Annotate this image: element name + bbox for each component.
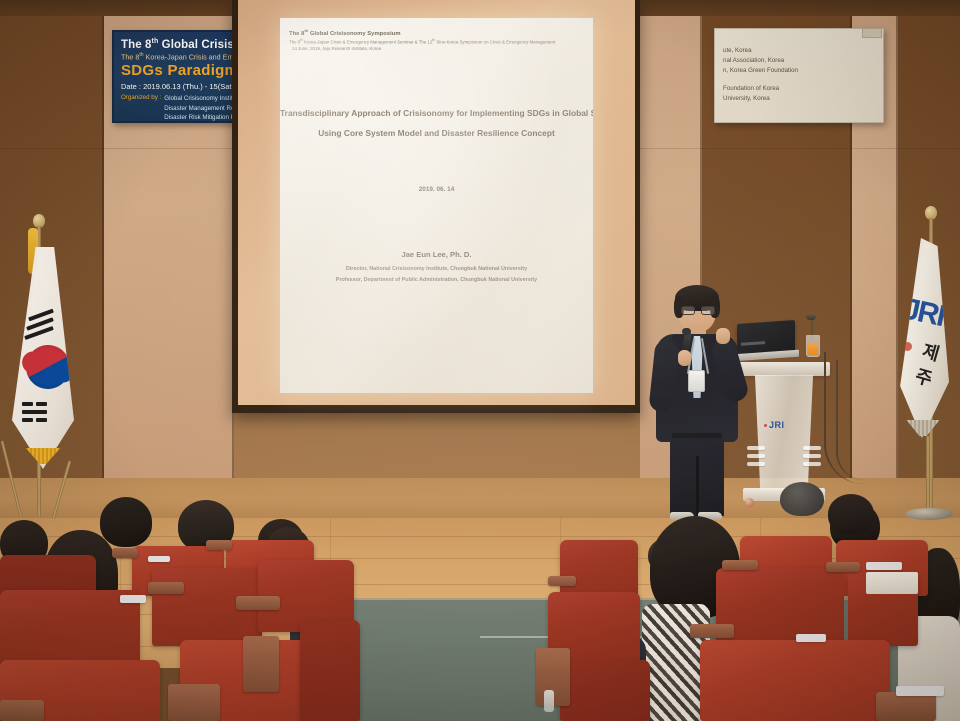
slide-header-title: The 8th Global Crisisonomy Symposium xyxy=(289,28,585,37)
podium-rib xyxy=(803,446,821,450)
seat-armrest xyxy=(690,624,734,638)
seat-armrest xyxy=(548,576,576,586)
slide-main-title: Transdisciplinary Approach of Crisisonom… xyxy=(280,104,593,144)
projection-screen-surface: The 8th Global Crisisonomy Symposium The… xyxy=(238,0,635,405)
presentation-slide: The 8th Global Crisisonomy Symposium The… xyxy=(280,18,593,393)
phone-on-armrest[interactable] xyxy=(120,595,146,603)
seat[interactable] xyxy=(700,640,890,721)
slide-header-title-pre: The 8 xyxy=(289,31,304,37)
banner-left-organized-label: Organized by : xyxy=(121,94,161,123)
presenter-name-badge xyxy=(688,370,705,392)
flag-stand-base-rod xyxy=(926,436,930,514)
seat-armrest xyxy=(722,560,758,570)
slide-author-affiliation-1: Director, National Crisisonomy Institute… xyxy=(280,265,593,274)
seat[interactable] xyxy=(300,620,360,721)
microphone-icon xyxy=(806,313,816,320)
seat-armrest xyxy=(876,692,936,721)
slide-header-seminar-line: The 8th Korea-Japan Crisis & Emergency M… xyxy=(289,38,585,44)
podium-rib xyxy=(747,454,765,458)
seat-armrest xyxy=(826,562,860,572)
wall-seam-5 xyxy=(896,0,898,500)
banner-left-theme: SDGs Paradigm xyxy=(121,62,250,79)
cup-contents xyxy=(808,343,818,355)
seat-armrest xyxy=(168,684,220,721)
phone-on-armrest[interactable] xyxy=(866,562,902,570)
slide-header-venue-line: 14 June, 2019, Jeju Research Institute, … xyxy=(289,46,585,51)
flag-stand-base xyxy=(905,508,953,520)
slide-header-seminar-c: Sino-Korea Symposium on Crisis & Emergen… xyxy=(435,40,555,45)
list-item: n, Korea Green Foundation xyxy=(723,66,875,76)
banner-left-title-pre: The 8 xyxy=(121,39,152,51)
slide-author-affiliation-2: Professor, Department of Public Administ… xyxy=(280,276,593,285)
slide-date: 2019. 06. 14 xyxy=(280,186,593,193)
loudspeaker-icon xyxy=(780,482,824,516)
seat-armrest xyxy=(206,540,232,550)
trigram-bottom xyxy=(22,402,33,406)
seat-armrest xyxy=(148,582,184,594)
seat[interactable] xyxy=(560,660,650,721)
presenter-hand-right xyxy=(716,328,730,344)
presenter-leg-gap xyxy=(696,456,699,516)
podium-rib xyxy=(747,446,765,450)
power-cable xyxy=(836,360,864,480)
glasses-icon xyxy=(701,306,715,315)
slide-title-line-1: Transdisciplinary Approach of Crisisonom… xyxy=(280,104,593,124)
presenter xyxy=(650,288,746,520)
banner-left-subtitle: The 8th Korea-Japan Crisis and Eme xyxy=(121,52,250,61)
banner-right-spacer xyxy=(723,76,875,84)
phone-on-armrest[interactable] xyxy=(796,634,826,642)
trigram-bottom xyxy=(36,402,47,406)
seat-armrest xyxy=(0,700,44,721)
list-item: Foundation of Korea xyxy=(723,84,875,94)
conference-photo-scene: The 8th Global Crisis The 8th Korea-Japa… xyxy=(0,0,960,721)
seat-armrest xyxy=(243,636,279,692)
podium-body xyxy=(751,375,817,490)
list-item: ute, Korea xyxy=(723,46,875,56)
banner-left-title-post: Global Crisis xyxy=(158,39,234,51)
microphone-head-icon xyxy=(682,328,691,335)
banner-left-subtitle-pre: The 8 xyxy=(121,52,139,61)
trigram-bottom xyxy=(22,418,33,422)
audience-head xyxy=(828,494,874,534)
projection-screen-frame: The 8th Global Crisisonomy Symposium The… xyxy=(232,0,640,413)
slide-header: The 8th Global Crisisonomy Symposium The… xyxy=(289,28,585,51)
slide-author-block: Jae Eun Lee, Ph. D. Director, National C… xyxy=(280,250,593,286)
glasses-icon xyxy=(681,306,695,315)
podium-top-surface xyxy=(738,362,830,376)
wall-seam-1 xyxy=(102,0,104,500)
phone-on-armrest[interactable] xyxy=(148,556,170,562)
trigram-bottom xyxy=(36,418,47,422)
banner-left-subtitle-post: Korea-Japan Crisis and Eme xyxy=(144,52,238,61)
list-item: nal Association, Korea xyxy=(723,56,875,66)
water-bottle-icon xyxy=(544,690,554,712)
banner-left-title: The 8th Global Crisis xyxy=(121,38,250,51)
podium-logo-text: JRI xyxy=(769,420,785,430)
seat-armrest xyxy=(236,596,280,610)
audience-head xyxy=(100,497,152,547)
trigram-bottom xyxy=(22,410,47,414)
slide-header-seminar-b: Korea-Japan Crisis & Emergency Managemen… xyxy=(303,40,433,45)
paper-on-seat xyxy=(866,572,918,594)
podium-caster-icon xyxy=(745,498,754,507)
podium-logo-dot-icon xyxy=(764,424,767,427)
drink-cup-icon xyxy=(806,335,820,357)
slide-title-line-2: Using Core System Model and Disaster Res… xyxy=(280,124,593,144)
podium-rib xyxy=(803,454,821,458)
banner-right-mount-tab xyxy=(862,28,882,38)
banner-right: ute, Korea nal Association, Korea n, Kor… xyxy=(714,28,884,123)
phone-on-armrest[interactable] xyxy=(896,686,944,696)
banner-left-date: Date : 2019.06.13 (Thu.) - 15(Sat.) xyxy=(121,82,250,91)
list-item: University, Korea xyxy=(723,94,875,104)
seat-armrest xyxy=(112,548,138,558)
banner-left-organizers: Organized by : Global Crisisonomy Instit… xyxy=(121,94,250,123)
slide-header-title-post: Global Crisisonomy Symposium xyxy=(308,31,400,37)
slide-glare-overlay xyxy=(280,18,593,393)
podium-rib xyxy=(803,462,821,466)
slide-author-name: Jae Eun Lee, Ph. D. xyxy=(280,250,593,259)
podium-rib xyxy=(747,462,765,466)
slide-header-seminar-a: The 8 xyxy=(289,40,300,45)
presenter-hand-left xyxy=(678,350,691,366)
